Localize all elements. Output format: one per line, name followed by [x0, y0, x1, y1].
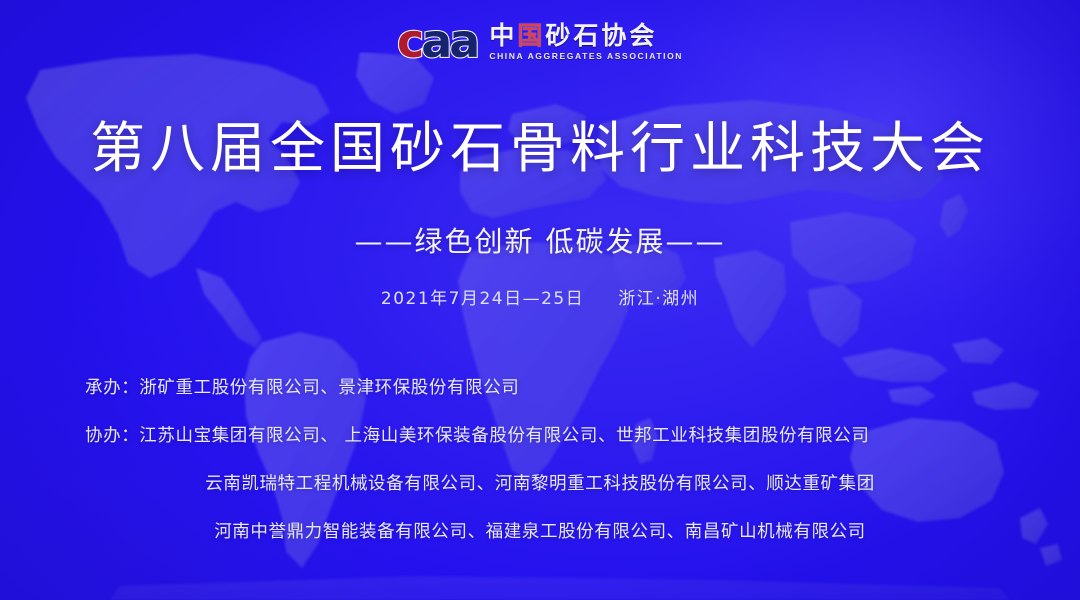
conference-title: 第八届全国砂石骨料行业科技大会	[0, 118, 1080, 180]
logo-cn-part2: 砂石协会	[545, 21, 657, 50]
co-organizers-line-1: 协办：江苏山宝集团有限公司、 上海山美环保装备股份有限公司、世邦工业科技集团股份…	[85, 428, 869, 446]
conference-location: 浙江·湖州	[618, 289, 699, 309]
conference-poster: c a a 中国砂石协会 CHINA AGGREGATES ASSOCIATIO…	[0, 0, 1080, 600]
association-logo: c a a 中国砂石协会 CHINA AGGREGATES ASSOCIATIO…	[397, 16, 683, 68]
conference-meta: 2021年7月24日—25日浙江·湖州	[0, 284, 1080, 309]
association-name-english: CHINA AGGREGATES ASSOCIATION	[489, 51, 683, 61]
conference-date: 2021年7月24日—25日	[381, 289, 584, 309]
co-organizers-line-2: 云南凯瑞特工程机械设备有限公司、河南黎明重工科技股份有限公司、顺达重矿集团	[0, 476, 1080, 494]
caa-logo-mark: c a a	[397, 23, 477, 61]
logo-cn-seal: 国	[517, 23, 545, 49]
caa-letter-a-2: a	[449, 23, 477, 61]
caa-letter-c: c	[397, 23, 421, 61]
conference-subtitle: ——绿色创新 低碳发展——	[0, 220, 1080, 260]
logo-cn-part1: 中	[489, 21, 517, 50]
host-organizations-line: 承办：浙矿重工股份有限公司、景津环保股份有限公司	[85, 380, 519, 398]
co-organizers-line-3: 河南中誉鼎力智能装备有限公司、福建泉工股份有限公司、南昌矿山机械有限公司	[0, 524, 1080, 542]
association-name-block: 中国砂石协会 CHINA AGGREGATES ASSOCIATION	[489, 23, 683, 61]
association-name-chinese: 中国砂石协会	[489, 23, 683, 49]
caa-letter-a-1: a	[421, 23, 449, 61]
